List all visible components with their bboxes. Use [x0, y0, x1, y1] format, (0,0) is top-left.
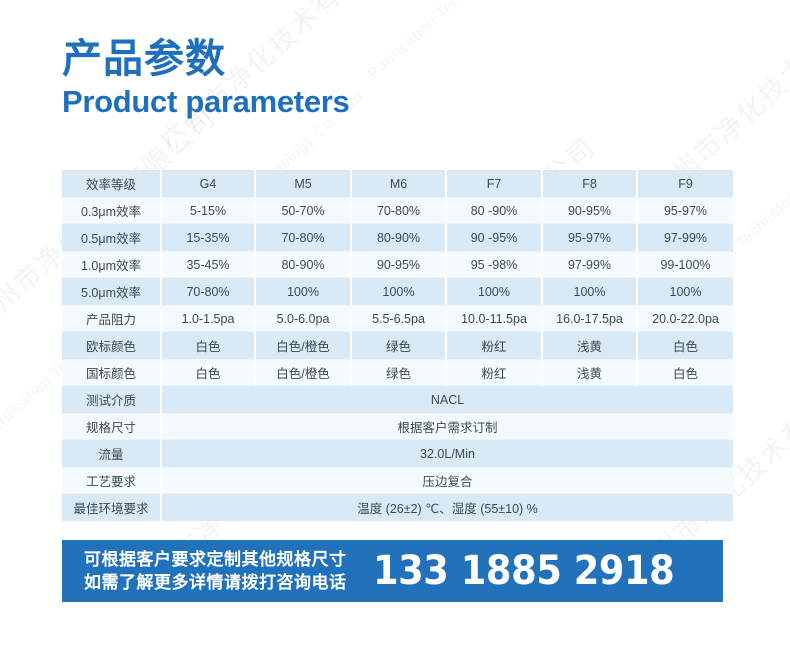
row-value-cell: 10.0-11.5pa: [446, 305, 542, 332]
row-value-merged: 根据客户需求订制: [161, 413, 733, 440]
row-value-cell: 90 -95%: [446, 224, 542, 251]
row-value-cell: 90-95%: [542, 197, 637, 224]
row-value-cell: 80-90%: [255, 251, 351, 278]
row-value-cell: 100%: [351, 278, 446, 305]
table-row: 流量32.0L/Min: [62, 440, 733, 467]
row-value-cell: G4: [161, 170, 255, 197]
row-value-cell: 70-80%: [351, 197, 446, 224]
row-label: 1.0μm效率: [62, 251, 161, 278]
table-row: 规格尺寸根据客户需求订制: [62, 413, 733, 440]
row-value-cell: 100%: [446, 278, 542, 305]
row-value-cell: 50-70%: [255, 197, 351, 224]
row-value-cell: 100%: [542, 278, 637, 305]
row-value-cell: 70-80%: [161, 278, 255, 305]
row-value-cell: 20.0-22.0pa: [637, 305, 733, 332]
row-value-cell: 80 -90%: [446, 197, 542, 224]
row-label: 0.5μm效率: [62, 224, 161, 251]
row-value-cell: 白色: [637, 332, 733, 359]
row-value-cell: F9: [637, 170, 733, 197]
table-row: 5.0μm效率70-80%100%100%100%100%100%: [62, 278, 733, 305]
row-value-cell: 5.5-6.5pa: [351, 305, 446, 332]
row-value-cell: 5.0-6.0pa: [255, 305, 351, 332]
row-value-cell: 浅黄: [542, 332, 637, 359]
row-value-cell: 粉红: [446, 359, 542, 386]
row-value-cell: 97-99%: [637, 224, 733, 251]
row-value-cell: 白色/橙色: [255, 332, 351, 359]
table-row: 效率等级G4M5M6F7F8F9: [62, 170, 733, 197]
table-row: 0.5μm效率15-35%70-80%80-90%90 -95%95-97%97…: [62, 224, 733, 251]
row-value-cell: 35-45%: [161, 251, 255, 278]
row-value-cell: 95-97%: [637, 197, 733, 224]
row-label: 国标颜色: [62, 359, 161, 386]
row-value-merged: 32.0L/Min: [161, 440, 733, 467]
table-row: 最佳环境要求温度 (26±2) ℃、湿度 (55±10) %: [62, 494, 733, 521]
row-value-cell: 97-99%: [542, 251, 637, 278]
row-value-cell: 95-97%: [542, 224, 637, 251]
row-label: 欧标颜色: [62, 332, 161, 359]
row-value-cell: 白色: [161, 359, 255, 386]
row-value-cell: 70-80%: [255, 224, 351, 251]
row-value-cell: 80-90%: [351, 224, 446, 251]
table-row: 国标颜色白色白色/橙色绿色粉红浅黄白色: [62, 359, 733, 386]
row-value-cell: 浅黄: [542, 359, 637, 386]
page-title-en: Product parameters: [62, 84, 349, 120]
row-value-cell: F7: [446, 170, 542, 197]
row-label: 5.0μm效率: [62, 278, 161, 305]
table-row: 0.3μm效率5-15%50-70%70-80%80 -90%90-95%95-…: [62, 197, 733, 224]
row-value-cell: 5-15%: [161, 197, 255, 224]
row-label: 最佳环境要求: [62, 494, 161, 521]
row-value-cell: 粉红: [446, 332, 542, 359]
row-value-merged: 温度 (26±2) ℃、湿度 (55±10) %: [161, 494, 733, 521]
row-value-cell: 90-95%: [351, 251, 446, 278]
row-value-cell: 16.0-17.5pa: [542, 305, 637, 332]
table-row: 产品阻力1.0-1.5pa5.0-6.0pa5.5-6.5pa10.0-11.5…: [62, 305, 733, 332]
row-value-cell: 白色: [637, 359, 733, 386]
table-row: 1.0μm效率35-45%80-90%90-95%95 -98%97-99%99…: [62, 251, 733, 278]
row-value-cell: 1.0-1.5pa: [161, 305, 255, 332]
row-value-cell: 15-35%: [161, 224, 255, 251]
row-label: 工艺要求: [62, 467, 161, 494]
row-label: 测试介质: [62, 386, 161, 413]
banner-line-1: 可根据客户要求定制其他规格尺寸: [84, 548, 347, 571]
row-value-cell: 99-100%: [637, 251, 733, 278]
page-heading: 产品参数 Product parameters: [62, 36, 349, 120]
row-value-cell: M5: [255, 170, 351, 197]
row-value-cell: 白色/橙色: [255, 359, 351, 386]
row-value-merged: 压边复合: [161, 467, 733, 494]
page-title-cn: 产品参数: [62, 36, 349, 82]
row-label: 0.3μm效率: [62, 197, 161, 224]
row-value-cell: 100%: [255, 278, 351, 305]
row-label: 产品阻力: [62, 305, 161, 332]
row-label: 效率等级: [62, 170, 161, 197]
banner-message: 可根据客户要求定制其他规格尺寸 如需了解更多详情请拨打咨询电话: [84, 548, 347, 594]
row-label: 规格尺寸: [62, 413, 161, 440]
row-value-cell: 绿色: [351, 359, 446, 386]
contact-phone-number[interactable]: 133 1885 2918: [373, 551, 674, 591]
table-row: 测试介质NACL: [62, 386, 733, 413]
row-value-cell: M6: [351, 170, 446, 197]
row-value-cell: F8: [542, 170, 637, 197]
specification-table-body: 效率等级G4M5M6F7F8F90.3μm效率5-15%50-70%70-80%…: [62, 170, 733, 521]
row-value-cell: 绿色: [351, 332, 446, 359]
row-value-cell: 白色: [161, 332, 255, 359]
row-value-cell: 95 -98%: [446, 251, 542, 278]
specification-table: 效率等级G4M5M6F7F8F90.3μm效率5-15%50-70%70-80%…: [62, 170, 733, 521]
row-label: 流量: [62, 440, 161, 467]
product-parameters-page: 产品参数 Product parameters 效率等级G4M5M6F7F8F9…: [0, 0, 790, 659]
contact-banner: 可根据客户要求定制其他规格尺寸 如需了解更多详情请拨打咨询电话 133 1885…: [62, 540, 723, 602]
row-value-merged: NACL: [161, 386, 733, 413]
table-row: 工艺要求压边复合: [62, 467, 733, 494]
row-value-cell: 100%: [637, 278, 733, 305]
table-row: 欧标颜色白色白色/橙色绿色粉红浅黄白色: [62, 332, 733, 359]
banner-line-2: 如需了解更多详情请拨打咨询电话: [84, 571, 347, 594]
